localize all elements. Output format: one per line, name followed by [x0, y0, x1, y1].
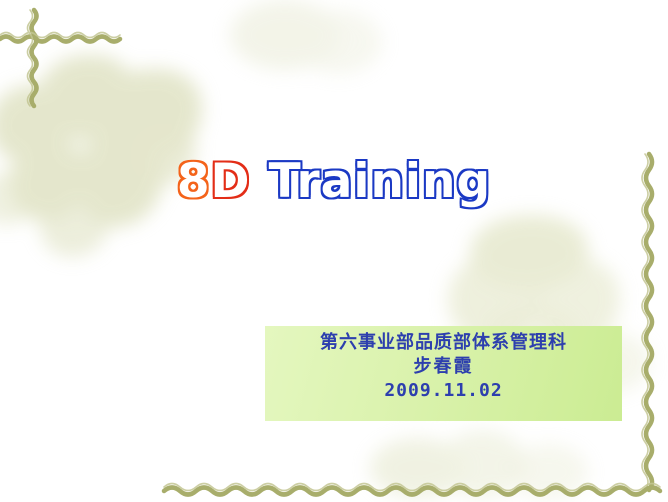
subtitle-panel: 第六事业部品质部体系管理科 步春霞 2009.11.02 [265, 326, 622, 421]
bamboo-cross-decoration [0, 4, 150, 114]
slide-title: 8DTraining [0, 158, 668, 205]
title-part-letter: D [211, 154, 251, 209]
title-part-number: 8 [177, 154, 211, 209]
floral-leaf-watermark-top [200, 0, 400, 90]
presentation-slide: 8DTraining 第六事业部品质部体系管理科 步春霞 2009.11.02 [0, 0, 668, 502]
subtitle-presenter: 步春霞 [265, 355, 622, 379]
bamboo-horizontal-decoration [160, 478, 666, 502]
subtitle-organization: 第六事业部品质部体系管理科 [265, 331, 622, 355]
title-part-word: Training [269, 154, 492, 209]
subtitle-date: 2009.11.02 [265, 379, 622, 403]
floral-leaf-watermark-bottom [360, 430, 600, 502]
